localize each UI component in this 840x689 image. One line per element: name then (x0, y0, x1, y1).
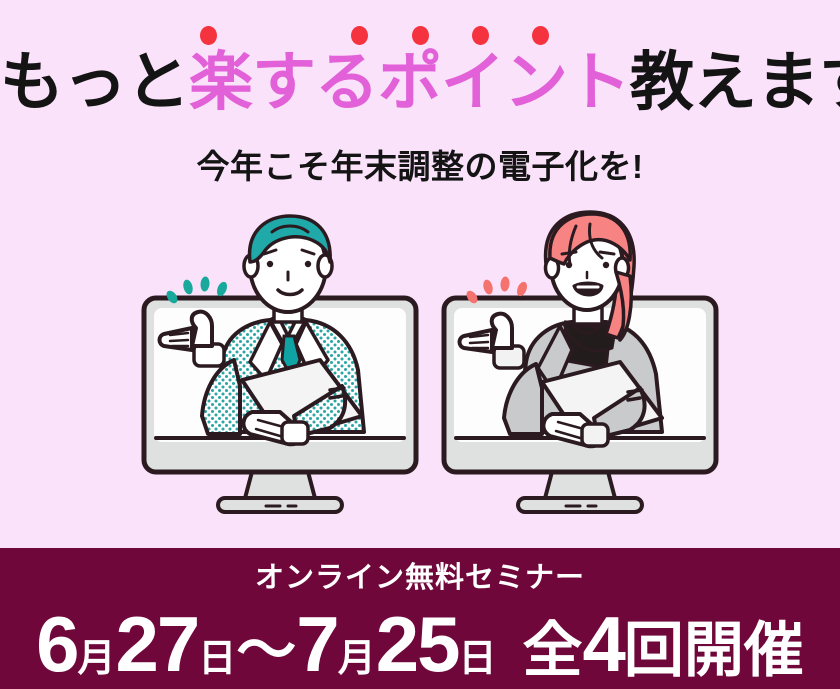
headline-part-1: もっと (0, 46, 189, 118)
man-in-monitor-illustration (130, 210, 430, 548)
emphasis-dot (472, 26, 489, 45)
emphasis-dot (351, 26, 368, 45)
sessions-count: 4 (582, 600, 623, 688)
emphasis-dot (532, 26, 549, 45)
headline-part-2: 楽 (189, 46, 252, 118)
sessions-suffix: 回開催 (624, 617, 804, 684)
sessions-prefix: 全 (522, 617, 582, 684)
headline-part-3: する (252, 46, 378, 118)
end-day-number: 25 (376, 600, 459, 688)
emphasis-dot (200, 26, 217, 45)
monitor-stand (518, 468, 642, 512)
bottom-band: オンライン無料セミナー 6月27日〜7月25日全4回開催 (0, 548, 840, 689)
start-month-unit: 月 (78, 638, 116, 680)
headline-part-4: ポイント (378, 46, 630, 118)
subtitle: 今年こそ年末調整の電子化を! (0, 146, 840, 188)
start-day-unit: 日 (198, 638, 236, 680)
seminar-type-label: オンライン無料セミナー (0, 560, 840, 596)
start-day-number: 27 (116, 600, 199, 688)
monitor-stand (218, 468, 342, 512)
start-month-number: 6 (36, 600, 77, 688)
headline-part-5: 教えます。 (630, 46, 840, 118)
emphasis-dot (412, 26, 429, 45)
page-title: もっと楽するポイント教えます。 (0, 46, 840, 118)
end-month-unit: 月 (338, 638, 376, 680)
end-day-unit: 日 (458, 638, 496, 680)
emphasis-dots-row (0, 26, 840, 48)
date-range-mark: 〜 (236, 617, 296, 684)
seminar-banner: もっと楽するポイント教えます。 今年こそ年末調整の電子化を! (0, 0, 840, 689)
headline-zone: もっと楽するポイント教えます。 今年こそ年末調整の電子化を! (0, 0, 840, 200)
woman-in-monitor-illustration (430, 210, 730, 548)
seminar-dates: 6月27日〜7月25日全4回開催 (0, 602, 840, 689)
end-month-number: 7 (296, 600, 337, 688)
illustration-zone (0, 210, 840, 548)
